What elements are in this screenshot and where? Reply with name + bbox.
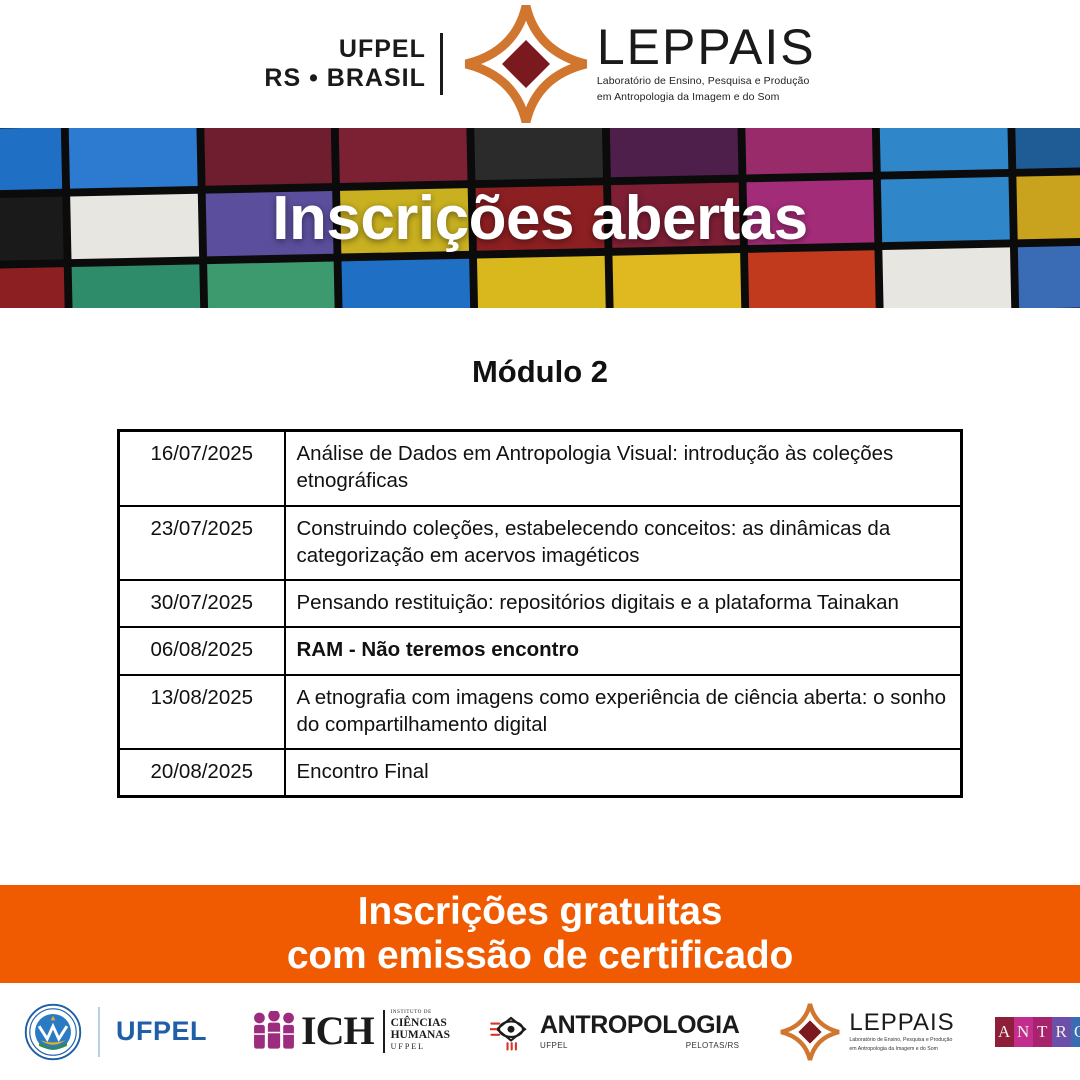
cta-line2: com emissão de certificado [287,934,793,978]
ich-tagline-line3: UFPEL [391,1042,450,1052]
footer-logo-ufpel: UFPEL [24,1003,207,1061]
antropoeticas-letter: T [1033,1017,1052,1047]
table-row: 13/08/2025A etnografia com imagens como … [119,675,962,750]
footer-divider [98,1007,100,1057]
schedule-table-wrapper: 16/07/2025Análise de Dados em Antropolog… [0,429,1080,798]
ich-tagline-line2: HUMANAS [391,1029,450,1042]
table-row: 06/08/2025RAM - Não teremos encontro [119,627,962,674]
antropoeticas-letter: O [1071,1017,1080,1047]
footer-logo-bar: UFPEL ICH INSTITUTO DE CIÊNCIAS HUMANAS … [0,983,1080,1080]
footer-logo-antropologia: ANTROPOLOGIA UFPEL PELOTAS/RS [490,1012,739,1052]
antropologia-eye-icon [490,1012,532,1052]
leppais-name: LEPPAIS [597,24,816,72]
schedule-topic-cell: Análise de Dados em Antropologia Visual:… [285,431,962,506]
table-row: 23/07/2025Construindo coleções, estabele… [119,506,962,581]
schedule-date-cell: 06/08/2025 [119,627,285,674]
leppais-footer-sub2: em Antropologia da Imagem e do Som [849,1046,954,1053]
leppais-star-icon [461,4,591,124]
schedule-date-cell: 23/07/2025 [119,506,285,581]
antropologia-text-block: ANTROPOLOGIA UFPEL PELOTAS/RS [540,1013,739,1050]
schedule-date-cell: 16/07/2025 [119,431,285,506]
ufpel-footer-wordmark: UFPEL [116,1016,207,1047]
leppais-footer-sub1: Laboratório de Ensino, Pesquisa e Produç… [849,1037,954,1044]
antropologia-name: ANTROPOLOGIA [540,1013,739,1038]
antropologia-tags: UFPEL PELOTAS/RS [540,1041,739,1050]
footer-logo-ich: ICH INSTITUTO DE CIÊNCIAS HUMANAS UFPEL [251,1010,450,1052]
table-row: 20/08/2025Encontro Final [119,749,962,797]
hero-banner: Inscrições abertas [0,128,1080,308]
ufpel-wordmark-line2: RS • BRASIL [264,64,425,93]
cta-banner: Inscrições gratuitas com emissão de cert… [0,885,1080,983]
cta-line1: Inscrições gratuitas [358,890,722,934]
leppais-text-block: LEPPAIS Laboratório de Ensino, Pesquisa … [597,24,816,104]
antropoeticas-letter: A [995,1017,1014,1047]
ufpel-seal-icon [24,1003,82,1061]
antropologia-tag-right: PELOTAS/RS [686,1041,740,1050]
ufpel-wordmark: UFPEL RS • BRASIL [264,33,442,95]
ich-tagline-line1: CIÊNCIAS [391,1017,450,1030]
schedule-topic-cell: Encontro Final [285,749,962,797]
leppais-footer-name: LEPPAIS [849,1011,954,1035]
antropoeticas-letter: N [1014,1017,1033,1047]
schedule-table: 16/07/2025Análise de Dados em Antropolog… [117,429,963,798]
header-logo-lockup: UFPEL RS • BRASIL LEPPAIS Laboratório de… [264,4,815,124]
schedule-topic-cell: RAM - Não teremos encontro [285,627,962,674]
footer-logo-leppais: LEPPAIS Laboratório de Ensino, Pesquisa … [777,1003,954,1061]
leppais-footer-text: LEPPAIS Laboratório de Ensino, Pesquisa … [849,1011,954,1053]
antropoeticas-letter: R [1052,1017,1071,1047]
ich-letters: ICH [301,1011,374,1051]
schedule-topic-cell: Construindo coleções, estabelecendo conc… [285,506,962,581]
table-row: 30/07/2025Pensando restituição: repositó… [119,580,962,627]
schedule-date-cell: 30/07/2025 [119,580,285,627]
ufpel-wordmark-line1: UFPEL [339,35,426,64]
page-header: UFPEL RS • BRASIL LEPPAIS Laboratório de… [0,0,1080,128]
schedule-topic-cell: A etnografia com imagens como experiênci… [285,675,962,750]
footer-logo-antropoeticas: ANTROPOÉTICAS [995,1017,1080,1047]
schedule-date-cell: 13/08/2025 [119,675,285,750]
antropologia-tag-left: UFPEL [540,1041,568,1050]
ich-tagline: INSTITUTO DE CIÊNCIAS HUMANAS UFPEL [383,1010,450,1052]
module-title: Módulo 2 [0,354,1080,390]
schedule-topic-cell: Pensando restituição: repositórios digit… [285,580,962,627]
hero-title: Inscrições abertas [0,128,1080,308]
schedule-date-cell: 20/08/2025 [119,749,285,797]
table-row: 16/07/2025Análise de Dados em Antropolog… [119,431,962,506]
ich-people-icon [251,1011,297,1051]
leppais-star-icon-footer [777,1003,843,1061]
antropoeticas-wordmark: ANTROPOÉTICAS [995,1017,1080,1047]
leppais-subtitle-line1: Laboratório de Ensino, Pesquisa e Produç… [597,75,816,88]
leppais-subtitle-line2: em Antropologia da Imagem e do Som [597,91,816,104]
